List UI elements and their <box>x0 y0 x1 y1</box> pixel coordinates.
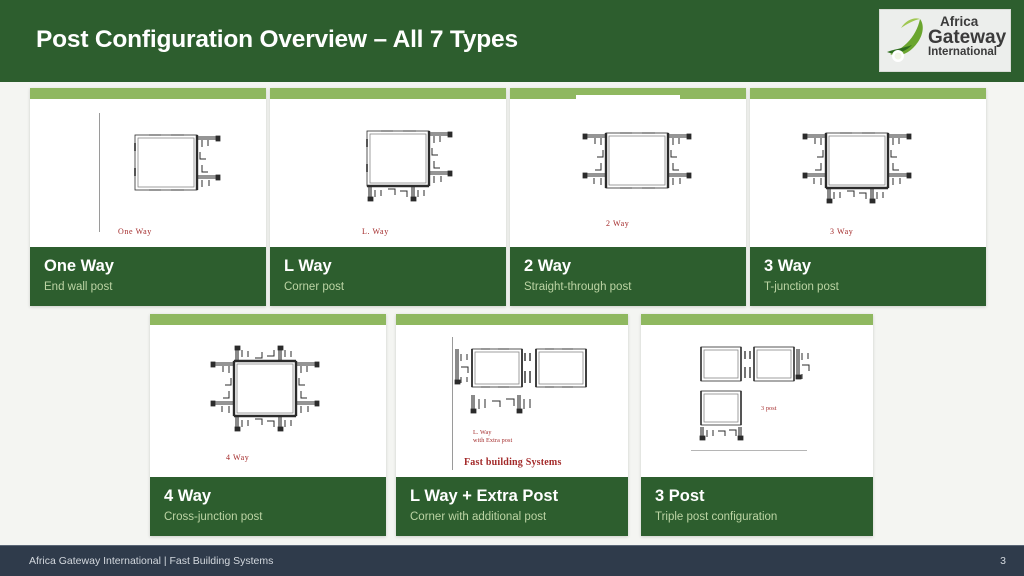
card-accent-bar <box>30 88 266 99</box>
drawing-label: L. Way <box>362 227 389 236</box>
card-figure-2-way: 2 Way <box>510 99 746 247</box>
card-subtitle: Triple post configuration <box>655 511 859 525</box>
logo-line-international: International <box>928 47 1011 59</box>
drawing-guide-line <box>99 113 100 232</box>
card-grid: One Way One Way End wall post <box>0 82 1024 545</box>
card-subtitle: Straight-through post <box>524 281 732 295</box>
drawing-label: 2 Way <box>606 219 629 228</box>
drawing-caption: Fast building Systems <box>464 457 562 468</box>
post-section-drawing-2-way <box>572 121 702 201</box>
card-title: 3 Post <box>655 487 859 506</box>
card-subtitle: Corner with additional post <box>410 511 614 525</box>
page-title: Post Configuration Overview – All 7 Type… <box>36 26 518 54</box>
card-figure-one-way: One Way <box>30 99 266 247</box>
card-accent-bar <box>396 314 628 325</box>
slide-header: Post Configuration Overview – All 7 Type… <box>0 0 1024 82</box>
card-figure-3-post: 3 post <box>641 325 873 477</box>
slide-footer: Africa Gateway International | Fast Buil… <box>0 545 1024 576</box>
logo-wordmark: Africa Gateway International <box>928 15 1011 59</box>
post-section-drawing-4-way <box>198 333 334 445</box>
card-caption-2-way: 2 Way Straight-through post <box>510 247 746 306</box>
drawing-label-line2: with Extra post <box>473 437 512 446</box>
card-caption-l-way-extra-post: L Way + Extra Post Corner with additiona… <box>396 477 628 536</box>
logo-line-gateway: Gateway <box>928 28 1011 47</box>
card-4-way[interactable]: 4 Way 4 Way Cross-junction post <box>150 314 386 536</box>
card-accent-bar <box>270 88 506 99</box>
card-caption-l-way: L Way Corner post <box>270 247 506 306</box>
card-one-way[interactable]: One Way One Way End wall post <box>30 88 266 306</box>
card-figure-l-way-extra-post: L. Way with Extra post Fast building Sys… <box>396 325 628 477</box>
card-3-way[interactable]: 3 Way 3 Way T-junction post <box>750 88 986 306</box>
card-subtitle: Corner post <box>284 281 492 295</box>
card-2-way[interactable]: 2 Way 2 Way Straight-through post <box>510 88 746 306</box>
post-section-drawing-3-post <box>695 339 815 445</box>
card-figure-3-way: 3 Way <box>750 99 986 247</box>
card-title: L Way <box>284 257 492 276</box>
card-title: One Way <box>44 257 252 276</box>
drawing-dimension-line <box>691 450 807 451</box>
post-section-drawing-l-way-extra <box>452 339 602 425</box>
card-caption-3-way: 3 Way T-junction post <box>750 247 986 306</box>
drawing-label: 3 post <box>761 405 777 414</box>
card-accent-bar <box>641 314 873 325</box>
card-l-way-extra-post[interactable]: L. Way with Extra post Fast building Sys… <box>396 314 628 536</box>
card-subtitle: Cross-junction post <box>164 511 372 525</box>
card-title: L Way + Extra Post <box>410 487 614 506</box>
drawing-label: 3 Way <box>830 227 853 236</box>
card-accent-bar <box>750 88 986 99</box>
card-caption-one-way: One Way End wall post <box>30 247 266 306</box>
card-caption-3-post: 3 Post Triple post configuration <box>641 477 873 536</box>
card-accent-bar <box>150 314 386 325</box>
card-figure-l-way: L. Way <box>270 99 506 247</box>
drawing-label: 4 Way <box>226 453 249 462</box>
footer-text: Africa Gateway International | Fast Buil… <box>29 555 273 567</box>
africa-gateway-swoosh-logo-icon <box>884 14 932 69</box>
post-section-drawing-3-way <box>792 123 922 215</box>
card-caption-4-way: 4 Way Cross-junction post <box>150 477 386 536</box>
page-number: 3 <box>1000 555 1006 567</box>
card-figure-4-way: 4 Way <box>150 325 386 477</box>
card-subtitle: End wall post <box>44 281 252 295</box>
card-accent-bar <box>510 88 746 99</box>
post-section-drawing-one-way <box>116 123 236 203</box>
card-l-way[interactable]: L. Way L Way Corner post <box>270 88 506 306</box>
card-3-post[interactable]: 3 post 3 Post Triple post configuration <box>641 314 873 536</box>
card-subtitle: T-junction post <box>764 281 972 295</box>
card-title: 2 Way <box>524 257 732 276</box>
drawing-label: One Way <box>118 227 152 236</box>
company-logo: Africa Gateway International <box>879 9 1011 72</box>
card-title: 4 Way <box>164 487 372 506</box>
post-section-drawing-l-way <box>348 121 468 213</box>
card-title: 3 Way <box>764 257 972 276</box>
